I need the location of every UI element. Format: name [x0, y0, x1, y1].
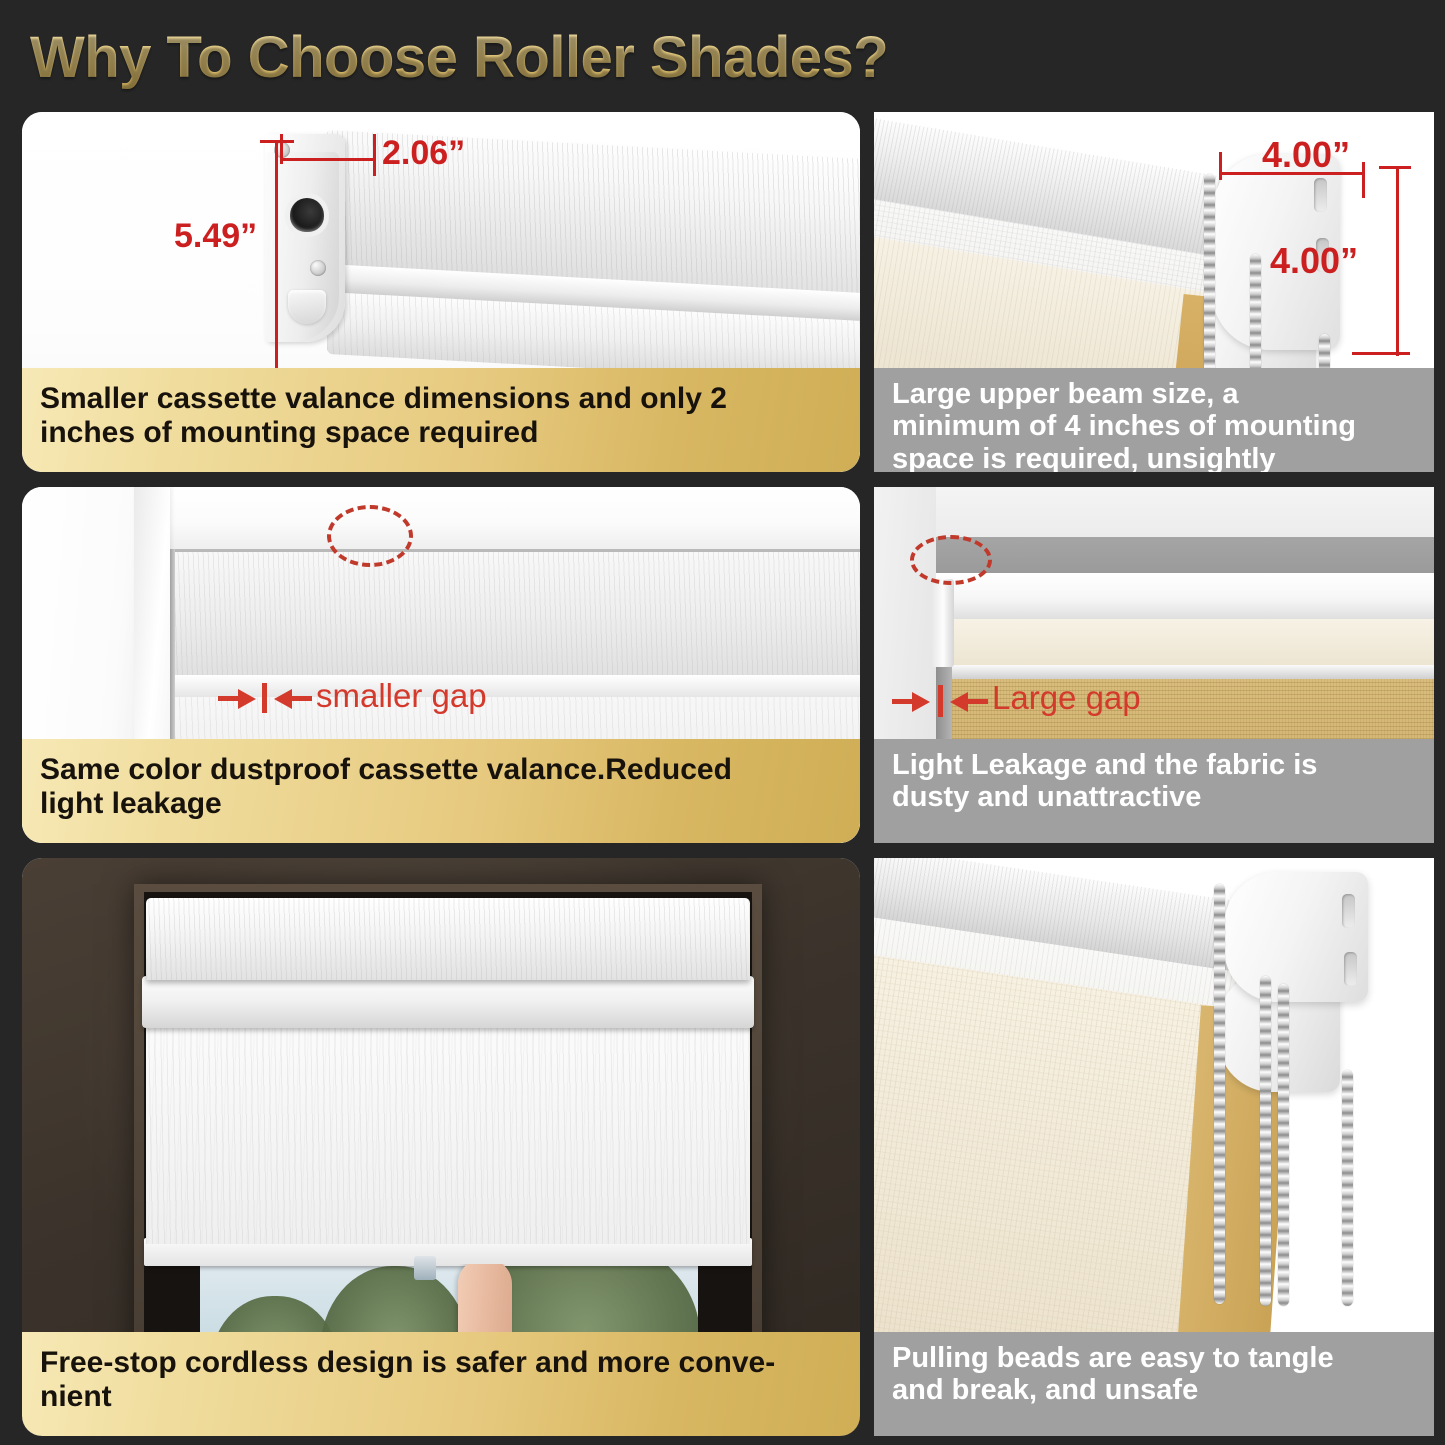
caption-line: dusty and unattractive [892, 781, 1418, 813]
fit-highlight-ellipse [327, 505, 413, 567]
caption-line: Smaller cassette valance dimensions and … [40, 382, 844, 416]
height-dimension-label: 5.49” [174, 217, 257, 256]
caption-line: Large upper beam size, a [892, 378, 1418, 410]
bracket-slot-top [1342, 894, 1355, 928]
bead-chain-mid [1250, 254, 1261, 374]
shade-pull-tab [414, 1256, 436, 1280]
cassette-valance [146, 898, 750, 980]
bracket-slot-top [1314, 178, 1327, 212]
cassette-valance [172, 549, 860, 677]
gap-arrow-left-head [238, 689, 256, 709]
caption-line: minimum of 4 inches of mounting [892, 410, 1418, 442]
gap-arrow-left-head [912, 692, 930, 712]
bead-chain-left [1204, 174, 1215, 374]
height-dimension-tick-top [260, 140, 294, 143]
caption-line: Same color dustproof cassette valance.Re… [40, 753, 844, 787]
window-head-trim [170, 487, 860, 551]
beam-height-tick-top [1379, 166, 1411, 169]
caption-line: space is required, unsightly [892, 443, 1418, 472]
width-dimension-label: 2.06” [382, 134, 465, 173]
bead-chain-left [1214, 884, 1225, 1304]
panel-con-large-beam: 4.00” 4.00” Large upper beam size, a min… [874, 112, 1434, 472]
gap-arrow-left-stem [892, 699, 914, 704]
valance-front-lip [142, 976, 754, 1028]
shade-fabric [146, 1024, 750, 1244]
fabric-roll-cream [936, 619, 1434, 669]
beam-width-tick-right [1362, 162, 1365, 198]
bracket-slot-bottom [1344, 952, 1357, 986]
beam-rounded-front [936, 573, 1434, 625]
gap-callout-label: smaller gap [316, 677, 487, 715]
caption-con-light-leakage: Light Leakage and the fabric is dusty an… [874, 739, 1434, 843]
gap-marker-bar [938, 685, 943, 717]
gap-highlight-ellipse [910, 535, 992, 585]
caption-line: Free-stop cordless design is safer and m… [40, 1346, 844, 1380]
comparison-grid: 2.06” 5.49” Smaller cassette valance dim… [0, 0, 1445, 1445]
gap-arrow-right-stem [290, 696, 312, 701]
caption-pro-cordless: Free-stop cordless design is safer and m… [22, 1332, 860, 1436]
caption-pro-smaller-gap: Same color dustproof cassette valance.Re… [22, 739, 860, 843]
bead-chain-mid [1260, 976, 1271, 1306]
panel-pro-cordless: Free-stop cordless design is safer and m… [22, 858, 860, 1436]
beam-height-dimension-line [1396, 166, 1399, 356]
caption-line: Light Leakage and the fabric is [892, 749, 1418, 781]
panel-con-pulling-beads: Pulling beads are easy to tangle and bre… [874, 858, 1434, 1436]
caption-con-large-beam: Large upper beam size, a minimum of 4 in… [874, 368, 1434, 472]
caption-line: inches of mounting space required [40, 416, 844, 450]
gap-marker-bar [262, 683, 267, 713]
bead-chain-inner [1278, 984, 1289, 1306]
beam-width-label: 4.00” [1262, 134, 1350, 176]
panel-con-light-leakage: Large gap Light Leakage and the fabric i… [874, 487, 1434, 843]
beam-shadow-band [936, 537, 1434, 575]
valance-screw-mid [310, 260, 326, 276]
bead-chain-right [1342, 1070, 1353, 1306]
caption-line: light leakage [40, 787, 844, 821]
gap-arrow-right-stem [966, 699, 988, 704]
width-dimension-tick-left [280, 134, 283, 164]
beam-height-tick-bottom [1352, 352, 1410, 355]
caption-line: nient [40, 1380, 844, 1414]
valance-bracket-hole [290, 198, 324, 232]
beam-width-tick-left [1219, 152, 1222, 180]
ceiling-surface [874, 487, 1434, 537]
width-dimension-tick-right [373, 134, 376, 176]
caption-line: Pulling beads are easy to tangle [892, 1342, 1418, 1374]
beam-height-label: 4.00” [1270, 240, 1358, 282]
beam-bottom-rail [936, 665, 1434, 679]
width-dimension-line [280, 158, 376, 161]
caption-line: and break, and unsafe [892, 1374, 1418, 1406]
gap-callout-label: Large gap [992, 679, 1141, 717]
panel-pro-cassette-dimensions: 2.06” 5.49” Smaller cassette valance dim… [22, 112, 860, 472]
caption-pro-cassette-dimensions: Smaller cassette valance dimensions and … [22, 368, 860, 472]
caption-con-pulling-beads: Pulling beads are easy to tangle and bre… [874, 1332, 1434, 1436]
gap-arrow-left-stem [218, 696, 240, 701]
mounting-bracket-pin [932, 579, 954, 667]
panel-pro-smaller-gap: smaller gap Same color dustproof cassett… [22, 487, 860, 843]
